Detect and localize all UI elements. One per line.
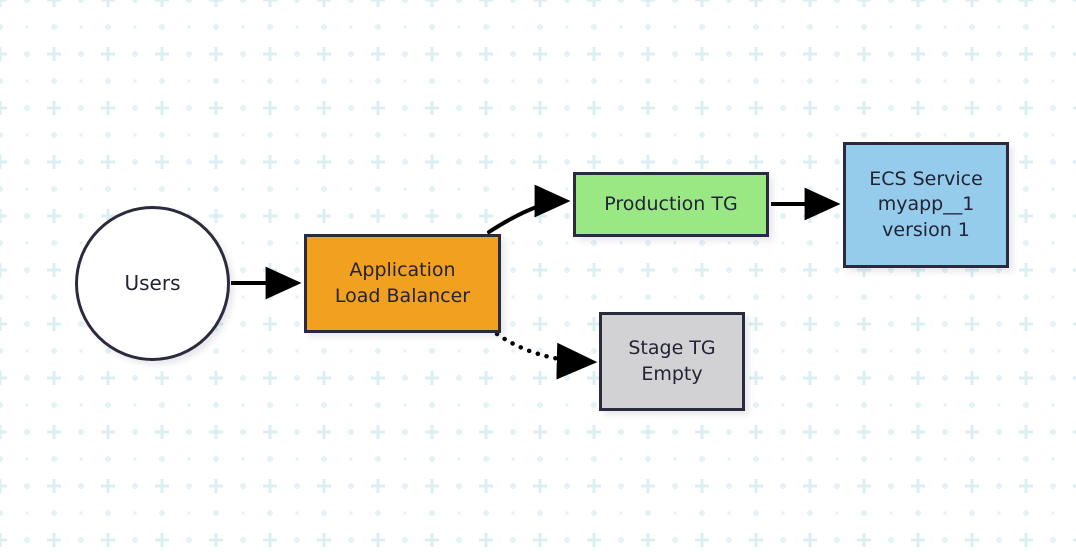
users-node-label-0: Users — [124, 270, 180, 296]
ecs-node-label-0: ECS Service — [869, 167, 983, 192]
application-load-balancer-node[interactable]: Application Load Balancer — [304, 234, 501, 333]
stage-tg-node-label-0: Stage TG — [628, 336, 715, 361]
edge-alb-to-production-tg — [489, 201, 565, 232]
alb-node-label-0: Application — [349, 258, 455, 283]
production-tg-node-label-0: Production TG — [604, 192, 737, 217]
stage-target-group-node[interactable]: Stage TG Empty — [599, 312, 745, 411]
users-node[interactable]: Users — [75, 206, 230, 361]
diagram-canvas: Users Application Load Balancer Producti… — [0, 0, 1076, 558]
production-target-group-node[interactable]: Production TG — [573, 172, 769, 237]
ecs-service-node[interactable]: ECS Service myapp__1 version 1 — [843, 142, 1009, 268]
stage-tg-node-label-1: Empty — [641, 362, 702, 387]
edge-alb-to-stage-tg — [497, 334, 591, 362]
ecs-node-label-2: version 1 — [882, 218, 970, 243]
alb-node-label-1: Load Balancer — [335, 284, 470, 309]
ecs-node-label-1: myapp__1 — [878, 192, 975, 217]
